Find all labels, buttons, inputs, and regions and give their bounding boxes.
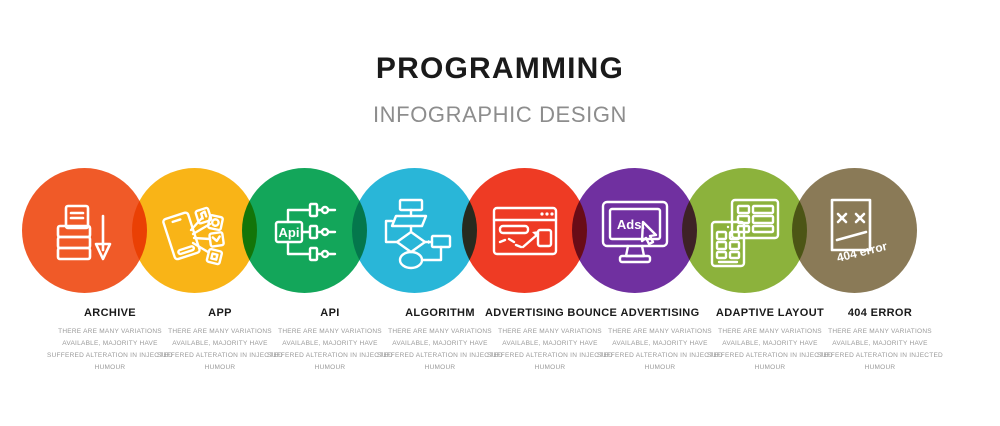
page-subtitle: INFOGRAPHIC DESIGN <box>0 103 1000 127</box>
circle-advertising[interactable]: Ads. <box>572 168 697 293</box>
circle-api[interactable]: Api <box>242 168 367 293</box>
tablet-phone-layout-icon <box>708 194 782 268</box>
api-icon-label: Api <box>278 225 299 240</box>
error-icon-label: 404 error <box>835 238 889 264</box>
caption-title-404-error: 404 ERROR <box>815 307 945 319</box>
ads-icon-label: Ads. <box>616 217 644 232</box>
page-title: PROGRAMMING <box>0 52 1000 85</box>
circle-archive[interactable] <box>22 168 147 293</box>
caption-404-error: 404 ERROR THERE ARE MANY VARIATIONS AVAI… <box>815 307 945 374</box>
circle-advertising-bounce[interactable] <box>462 168 587 293</box>
caption-row: ARCHIVE THERE ARE MANY VARIATIONS AVAILA… <box>0 307 1000 387</box>
circle-adaptive-layout[interactable] <box>682 168 807 293</box>
infographic-header: PROGRAMMING INFOGRAPHIC DESIGN <box>0 0 1000 127</box>
circle-algorithm[interactable] <box>352 168 477 293</box>
icon-circle-row: Api <box>0 168 1000 293</box>
circle-404-error[interactable]: 404 error <box>792 168 917 293</box>
archive-box-down-arrow-icon <box>48 194 122 268</box>
api-connector-icon: Api <box>268 194 342 268</box>
sad-page-404-icon: 404 error <box>818 194 892 268</box>
flowchart-icon <box>378 194 452 268</box>
browser-bounce-cursor-icon <box>488 194 562 268</box>
monitor-ads-cursor-icon: Ads. <box>598 194 672 268</box>
circle-app[interactable] <box>132 168 257 293</box>
mobile-app-network-icon <box>158 194 232 268</box>
caption-body-404-error: THERE ARE MANY VARIATIONS AVAILABLE, MAJ… <box>815 326 945 374</box>
